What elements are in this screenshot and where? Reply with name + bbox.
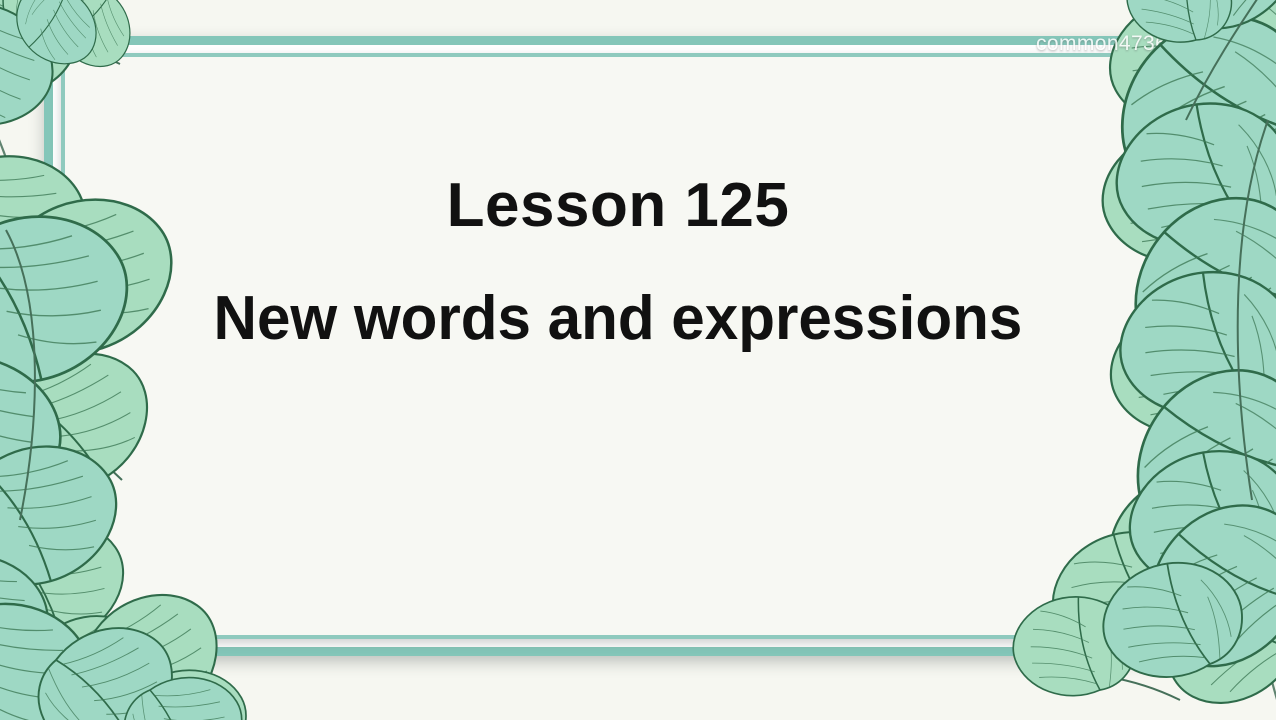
bilibili-logo-text: bilibili <box>1204 33 1262 56</box>
watermark: common4736 bilibili <box>1036 32 1262 56</box>
lesson-slide: Lesson 125 New words and expressions com… <box>0 0 1276 720</box>
bilibili-logo: bilibili <box>1177 33 1262 56</box>
page-title: Lesson 125 <box>447 173 790 238</box>
page-subtitle: New words and expressions <box>214 286 1023 351</box>
watermark-username: common4736 <box>1036 32 1167 56</box>
play-triangle-icon <box>1177 34 1201 54</box>
slide-content: Lesson 125 New words and expressions <box>61 53 1175 639</box>
